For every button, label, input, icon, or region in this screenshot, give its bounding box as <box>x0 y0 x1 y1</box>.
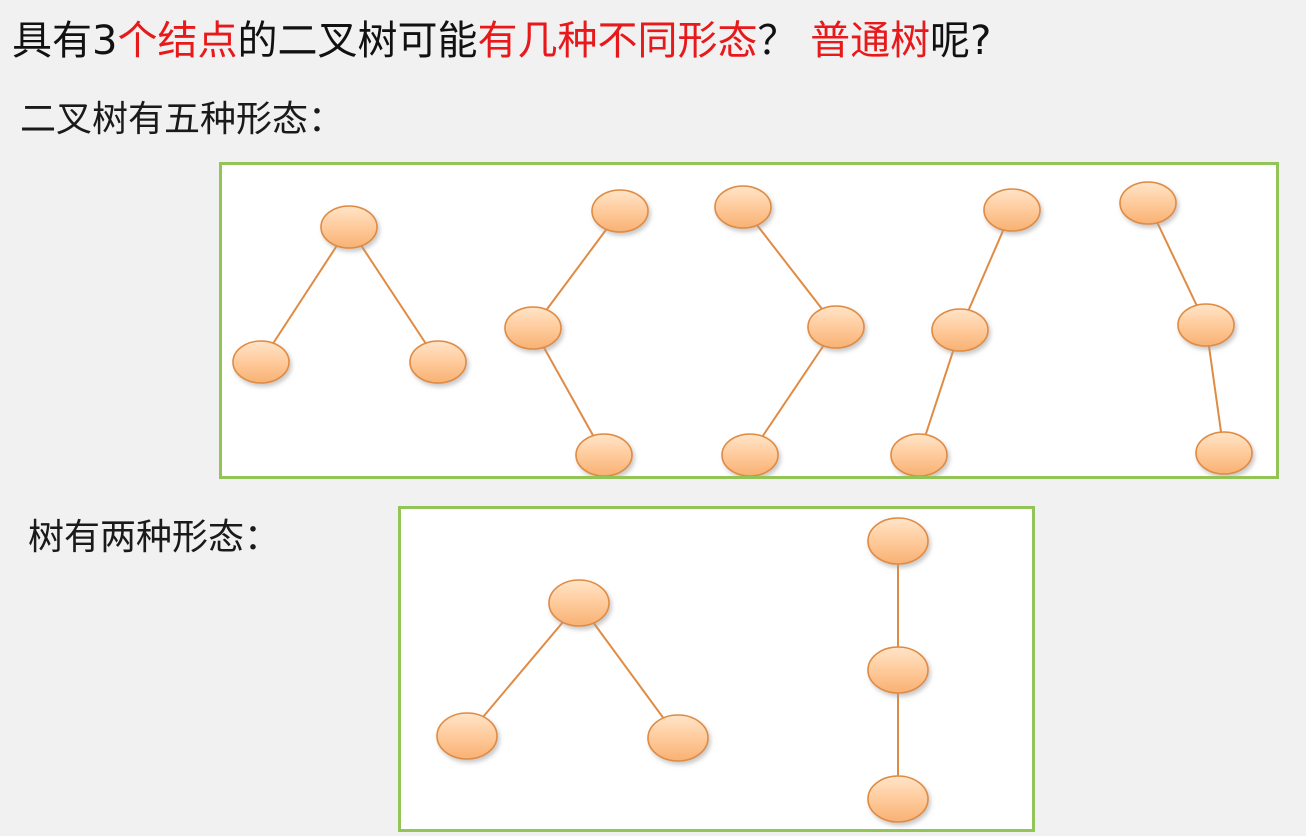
binary-tree-shapes-panel <box>219 162 1279 479</box>
binary-tree-node-1-a <box>321 206 377 248</box>
binary-tree-diagram <box>222 165 1276 476</box>
general-tree-shape-1-root-with-two-children <box>437 580 708 761</box>
subtitle-general-tree: 树有两种形态： <box>28 515 280 561</box>
general-tree-node-2-c <box>868 776 928 822</box>
binary-tree-node-5-a <box>1120 182 1176 224</box>
title-segment-1: 个结点 <box>117 18 237 64</box>
general-tree-diagram <box>401 509 1032 829</box>
general-tree-node-2-a <box>868 518 928 564</box>
general-tree-shape-2-vertical-chain-of-three <box>868 518 928 822</box>
title-segment-0: 具有3 <box>12 18 117 64</box>
general-tree-node-1-b <box>437 713 497 759</box>
binary-tree-node-4-a <box>984 189 1040 231</box>
binary-tree-shape-3-right-child-then-left-grandchild <box>715 186 864 476</box>
subtitle-binary-tree: 二叉树有五种形态： <box>20 97 344 143</box>
title-segment-5: 普通树 <box>810 18 930 64</box>
binary-tree-node-3-b <box>808 306 864 348</box>
binary-tree-node-2-c <box>576 434 632 476</box>
binary-tree-node-1-c <box>410 341 466 383</box>
title-segment-3: 有几种不同形态 <box>477 18 757 64</box>
page-title: 具有3个结点的二叉树可能有几种不同形态？ 普通树呢? <box>12 16 991 66</box>
title-segment-6: 呢? <box>930 18 991 64</box>
binary-tree-node-4-b <box>932 309 988 351</box>
general-tree-shapes-panel <box>398 506 1035 832</box>
binary-tree-node-1-b <box>233 341 289 383</box>
binary-tree-node-3-a <box>715 186 771 228</box>
general-tree-node-2-b <box>868 647 928 693</box>
binary-tree-node-5-b <box>1178 304 1234 346</box>
binary-tree-node-5-c <box>1196 432 1252 474</box>
slide-canvas: 具有3个结点的二叉树可能有几种不同形态？ 普通树呢? 二叉树有五种形态： 树有两… <box>0 0 1306 836</box>
title-segment-4: ？ <box>757 18 810 64</box>
general-tree-node-1-a <box>549 580 609 626</box>
binary-tree-node-2-b <box>505 307 561 349</box>
binary-tree-node-2-a <box>592 190 648 232</box>
binary-tree-shape-5-right-right-chain <box>1120 182 1252 474</box>
binary-tree-edge-1-2 <box>349 227 438 362</box>
binary-tree-edge-1-1 <box>261 227 349 362</box>
general-tree-node-1-c <box>648 715 708 761</box>
binary-tree-shape-4-left-left-chain <box>891 189 1040 476</box>
binary-tree-shape-2-left-child-then-right-grandchild <box>505 190 648 476</box>
binary-tree-node-3-c <box>722 434 778 476</box>
binary-tree-shape-1-root-with-two-children <box>233 206 466 383</box>
title-segment-2: 的二叉树可能 <box>237 18 477 64</box>
binary-tree-node-4-c <box>891 434 947 476</box>
